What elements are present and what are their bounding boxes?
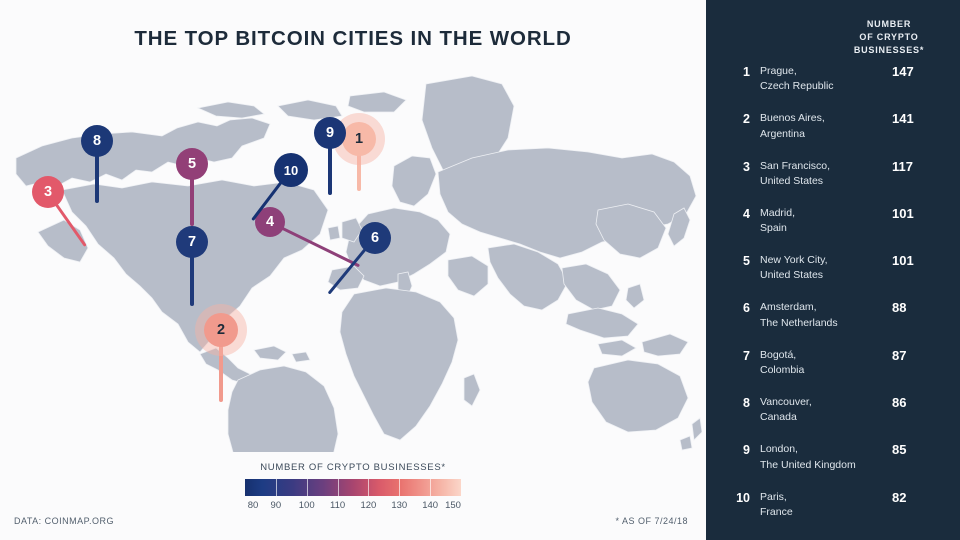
ranking-row-rank: 3 (726, 160, 750, 174)
legend-colorbar (245, 479, 461, 496)
ranking-row-value: 82 (892, 490, 948, 505)
ranking-row[interactable]: 4Madrid,Spain101 (706, 206, 960, 253)
map-marker-rank-label: 4 (266, 215, 274, 230)
ranking-row-city: Amsterdam, (760, 300, 885, 315)
ranking-row-location: San Francisco,United States (760, 159, 885, 189)
ranking-panel: NUMBER OF CRYPTO BUSINESSES* 1Prague,Cze… (706, 0, 960, 540)
ranking-row-country: Czech Republic (760, 79, 885, 94)
ranking-row-value: 101 (892, 253, 948, 268)
map-marker-head[interactable]: 2 (204, 313, 238, 347)
map-marker-rank-label: 8 (93, 134, 101, 149)
map-marker-rank-label: 5 (188, 157, 196, 172)
ranking-row-location: Vancouver,Canada (760, 395, 885, 425)
ranking-row-value: 85 (892, 442, 948, 457)
legend-tick-label: 130 (391, 500, 407, 511)
ranking-row-location: New York City,United States (760, 253, 885, 283)
legend-tick-label: 120 (360, 500, 376, 511)
ranking-row-rank: 4 (726, 207, 750, 221)
map-marker-head[interactable]: 3 (32, 176, 64, 208)
infographic-root: THE TOP BITCOIN CITIES IN THE WORLD (0, 0, 960, 540)
ranking-row-location: Paris,France (760, 490, 885, 520)
ranking-row[interactable]: 1Prague,Czech Republic147 (706, 64, 960, 111)
ranking-row-rank: 10 (726, 491, 750, 505)
ranking-row[interactable]: 5New York City,United States101 (706, 253, 960, 300)
ranking-row-location: Bogotá,Colombia (760, 348, 885, 378)
ranking-row-value: 88 (892, 300, 948, 315)
ranking-row[interactable]: 8Vancouver,Canada86 (706, 395, 960, 442)
map-marker-head[interactable]: 7 (176, 226, 208, 258)
ranking-row-city: New York City, (760, 253, 885, 268)
ranking-row-location: London,The United Kingdom (760, 442, 885, 472)
map-marker-rank-label: 2 (217, 323, 225, 338)
ranking-row-city: Bogotá, (760, 348, 885, 363)
ranking-row-value: 141 (892, 111, 948, 126)
map-marker-rank-label: 6 (371, 231, 379, 246)
ranking-header-line-2: OF CRYPTO (834, 31, 944, 44)
ranking-row[interactable]: 9London,The United Kingdom85 (706, 442, 960, 489)
map-marker-head[interactable]: 9 (314, 117, 346, 149)
ranking-row-city: Buenos Aires, (760, 111, 885, 126)
legend-tick-mark (307, 479, 308, 496)
ranking-row[interactable]: 7Bogotá,Colombia87 (706, 348, 960, 395)
ranking-row-country: The Netherlands (760, 316, 885, 331)
ranking-row-location: Amsterdam,The Netherlands (760, 300, 885, 330)
ranking-row-city: Prague, (760, 64, 885, 79)
map-marker-head[interactable]: 8 (81, 125, 113, 157)
legend-tick-label: 140 (422, 500, 438, 511)
legend-tick-mark (338, 479, 339, 496)
ranking-row-value: 101 (892, 206, 948, 221)
ranking-row-country: Argentina (760, 127, 885, 142)
legend-tick-labels: 8090100110120130140150 (245, 500, 461, 514)
ranking-row-rank: 6 (726, 301, 750, 315)
ranking-row-city: Paris, (760, 490, 885, 505)
ranking-row-city: San Francisco, (760, 159, 885, 174)
map-panel: THE TOP BITCOIN CITIES IN THE WORLD (0, 0, 706, 540)
ranking-row-value: 147 (892, 64, 948, 79)
map-marker-head[interactable]: 6 (359, 222, 391, 254)
asof-note: * AS OF 7/24/18 (615, 516, 688, 526)
map-marker-head[interactable]: 10 (274, 153, 308, 187)
ranking-row-location: Prague,Czech Republic (760, 64, 885, 94)
ranking-row[interactable]: 3San Francisco,United States117 (706, 159, 960, 206)
ranking-column-header: NUMBER OF CRYPTO BUSINESSES* (834, 18, 944, 57)
map-marker-rank-label: 3 (44, 185, 52, 200)
map-marker-rank-label: 7 (188, 235, 196, 250)
ranking-row-city: London, (760, 442, 885, 457)
ranking-header-line-3: BUSINESSES* (834, 44, 944, 57)
ranking-row-rank: 2 (726, 112, 750, 126)
map-marker-rank-label: 10 (284, 164, 298, 177)
ranking-row-location: Buenos Aires,Argentina (760, 111, 885, 141)
map-marker-rank-label: 1 (355, 132, 363, 147)
ranking-row-country: France (760, 505, 885, 520)
ranking-header-line-1: NUMBER (834, 18, 944, 31)
map-marker-head[interactable]: 5 (176, 148, 208, 180)
ranking-row-value: 87 (892, 348, 948, 363)
world-map (2, 62, 702, 452)
ranking-row-country: Canada (760, 410, 885, 425)
ranking-row-value: 117 (892, 159, 948, 174)
legend-tick-mark (368, 479, 369, 496)
legend-tick-mark (276, 479, 277, 496)
ranking-row-city: Madrid, (760, 206, 885, 221)
ranking-row-country: United States (760, 268, 885, 283)
legend-title: NUMBER OF CRYPTO BUSINESSES* (245, 462, 461, 473)
map-marker-head[interactable]: 1 (342, 122, 376, 156)
ranking-row[interactable]: 2Buenos Aires,Argentina141 (706, 111, 960, 158)
ranking-row[interactable]: 10Paris,France82 (706, 490, 960, 537)
ranking-list: 1Prague,Czech Republic1472Buenos Aires,A… (706, 64, 960, 537)
map-marker-rank-label: 9 (326, 126, 334, 141)
ranking-row-country: Spain (760, 221, 885, 236)
ranking-row[interactable]: 6Amsterdam,The Netherlands88 (706, 300, 960, 347)
ranking-row-rank: 5 (726, 254, 750, 268)
legend-tick-label: 100 (299, 500, 315, 511)
source-note: DATA: COINMAP.ORG (14, 516, 114, 526)
legend-tick-mark (430, 479, 431, 496)
legend-tick-label: 110 (330, 500, 345, 511)
ranking-row-country: Colombia (760, 363, 885, 378)
ranking-row-location: Madrid,Spain (760, 206, 885, 236)
ranking-row-city: Vancouver, (760, 395, 885, 410)
ranking-row-value: 86 (892, 395, 948, 410)
legend-tick-mark (399, 479, 400, 496)
legend-tick-label: 80 (248, 500, 259, 511)
ranking-row-rank: 1 (726, 65, 750, 79)
page-title: THE TOP BITCOIN CITIES IN THE WORLD (0, 27, 706, 51)
ranking-row-rank: 7 (726, 349, 750, 363)
legend-tick-label: 150 (445, 500, 461, 511)
ranking-row-country: The United Kingdom (760, 458, 885, 473)
legend: NUMBER OF CRYPTO BUSINESSES* 80901001101… (245, 462, 461, 514)
legend-tick-label: 90 (271, 500, 282, 511)
ranking-row-rank: 9 (726, 443, 750, 457)
ranking-row-rank: 8 (726, 396, 750, 410)
ranking-row-country: United States (760, 174, 885, 189)
